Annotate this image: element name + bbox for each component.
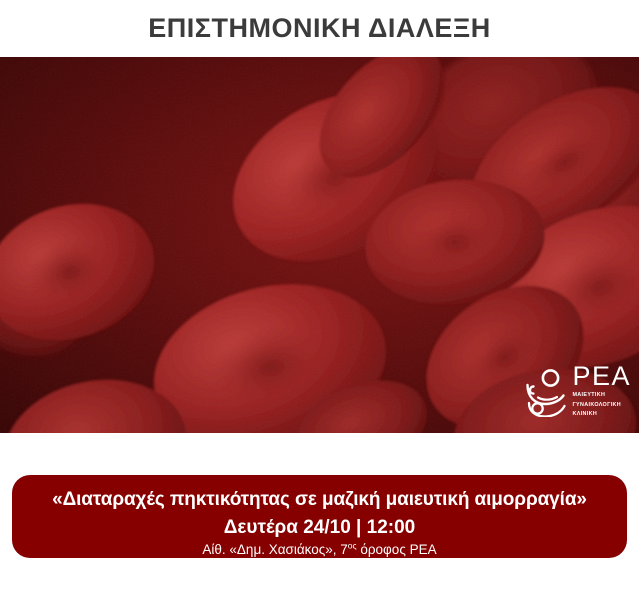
venue-text-after: όροφος ΡΕΑ [357, 542, 437, 557]
rea-logo-subtitle-line3: ΚΛΙΝΙΚΗ [572, 411, 631, 419]
lecture-title: «Διαταραχές πηκτικότητας σε μαζική μαιευ… [18, 489, 621, 511]
rea-logo-subtitle-line1: ΜΑΙΕΥΤΙΚΗ [572, 392, 631, 400]
rea-logo-subtitle-line2: ΓΥΝΑΙΚΟΛΟΓΙΚΗ [572, 402, 631, 410]
venue-ordinal-suffix: ος [348, 540, 357, 550]
lecture-datetime: Δευτέρα 24/10 | 12:00 [18, 518, 621, 539]
lecture-info-panel: «Διαταραχές πηκτικότητας σε μαζική μαιευ… [12, 475, 627, 558]
hero-image-blood-cells: ΡΕΑ ΜΑΙΕΥΤΙΚΗ ΓΥΝΑΙΚΟΛΟΓΙΚΗ ΚΛΙΝΙΚΗ [0, 57, 639, 433]
rea-wordblock: ΡΕΑ ΜΑΙΕΥΤΙΚΗ ΓΥΝΑΙΚΟΛΟΓΙΚΗ ΚΛΙΝΙΚΗ [572, 364, 631, 419]
lecture-venue: Αίθ. «Δημ. Χασιάκος», 7ος όροφος ΡΕΑ [18, 543, 621, 558]
poster-header: ΕΠΙΣΤΗΜΟΝΙΚΗ ΔΙΑΛΕΞΗ [0, 0, 639, 57]
rea-logo-name: ΡΕΑ [572, 364, 631, 390]
mother-and-child-icon [525, 367, 567, 417]
venue-text-before: Αίθ. «Δημ. Χασιάκος», 7 [202, 542, 347, 557]
info-panel-wrapper: «Διαταραχές πηκτικότητας σε μαζική μαιευ… [0, 475, 639, 558]
rea-logo: ΡΕΑ ΜΑΙΕΥΤΙΚΗ ΓΥΝΑΙΚΟΛΟΓΙΚΗ ΚΛΙΝΙΚΗ [525, 364, 631, 419]
spacer [0, 433, 639, 475]
page-title: ΕΠΙΣΤΗΜΟΝΙΚΗ ΔΙΑΛΕΞΗ [148, 13, 491, 44]
